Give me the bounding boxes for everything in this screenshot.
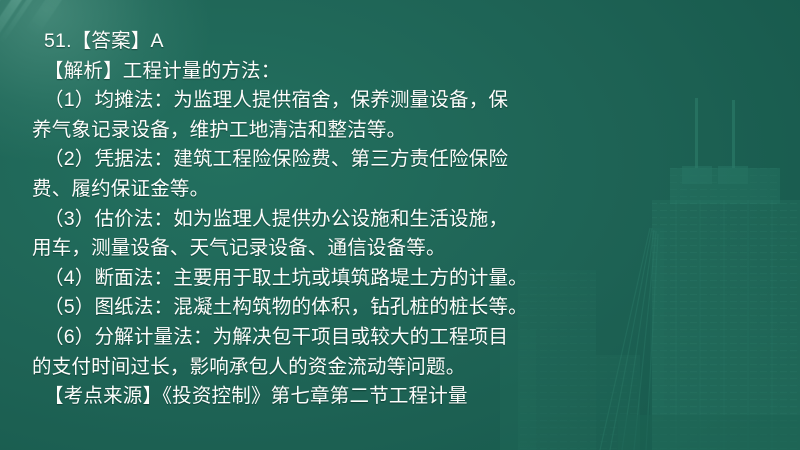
text-line: （5）图纸法：混凝土构筑物的体积，钻孔桩的桩长等。 (0, 293, 800, 323)
text-line: （2）凭据法：建筑工程险保险费、第三方责任险保险 (0, 145, 800, 175)
text-line: 用车，测量设备、天气记录设备、通信设备等。 (0, 234, 800, 264)
text-line: 费、履约保证金等。 (0, 175, 800, 205)
slide-canvas: 51.【答案】A 【解析】工程计量的方法： （1）均摊法：为监理人提供宿舍，保养… (0, 0, 800, 450)
lecture-text-block: 51.【答案】A 【解析】工程计量的方法： （1）均摊法：为监理人提供宿舍，保养… (0, 0, 800, 412)
text-line: 【解析】工程计量的方法： (0, 57, 800, 87)
text-line: （6）分解计量法：为解决包干项目或较大的工程项目 (0, 323, 800, 353)
text-line: （1）均摊法：为监理人提供宿舍，保养测量设备，保 (0, 86, 800, 116)
text-line: （3）估价法：如为监理人提供办公设施和生活设施， (0, 205, 800, 235)
text-line: 【考点来源】《投资控制》第七章第二节工程计量 (0, 382, 800, 412)
text-line: 的支付时间过长，影响承包人的资金流动等问题。 (0, 353, 800, 383)
text-line: 养气象记录设备，维护工地清洁和整洁等。 (0, 116, 800, 146)
text-line: 51.【答案】A (0, 27, 800, 57)
text-line: （4）断面法：主要用于取土坑或填筑路堤土方的计量。 (0, 264, 800, 294)
